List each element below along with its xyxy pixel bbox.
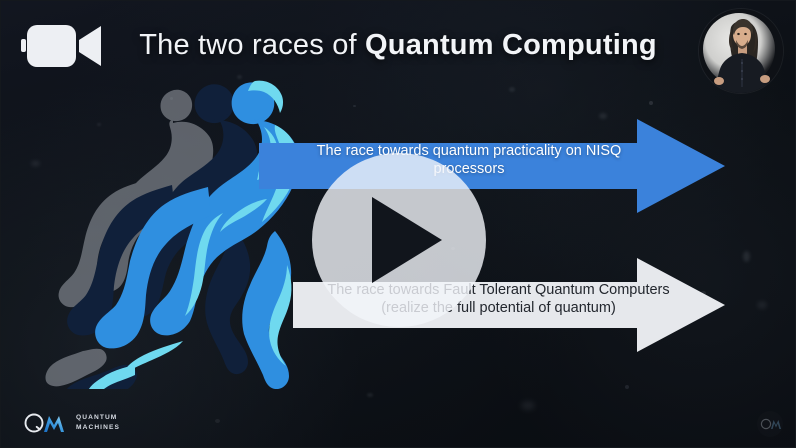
quantum-machines-logo: QUANTUM MACHINES <box>23 411 120 435</box>
qm-watermark-icon <box>757 411 783 437</box>
dust-speck <box>625 385 629 389</box>
slide-title: The two races of Quantum Computing <box>1 29 795 62</box>
dust-speck <box>649 101 653 105</box>
dust-speck <box>757 301 767 309</box>
dust-speck <box>743 251 750 262</box>
dust-speck <box>353 105 356 107</box>
play-triangle-icon <box>372 197 442 283</box>
qm-logo-line1: QUANTUM <box>76 413 120 423</box>
qm-logo-wordmark: QUANTUM MACHINES <box>76 413 120 433</box>
qm-logo-line2: MACHINES <box>76 423 120 433</box>
dust-speck <box>215 419 220 423</box>
play-button[interactable] <box>312 153 486 327</box>
video-camera-icon <box>19 20 107 72</box>
dust-speck <box>509 87 515 92</box>
slide-title-bold: Quantum Computing <box>365 29 657 61</box>
dust-speck <box>367 393 373 397</box>
video-player[interactable]: The two races of Quantum Computing <box>0 0 796 448</box>
slide-title-light: The two races of <box>139 29 365 61</box>
dust-speck <box>521 401 535 410</box>
qm-logo-mark <box>23 411 69 435</box>
presenter-webcam <box>699 9 783 93</box>
